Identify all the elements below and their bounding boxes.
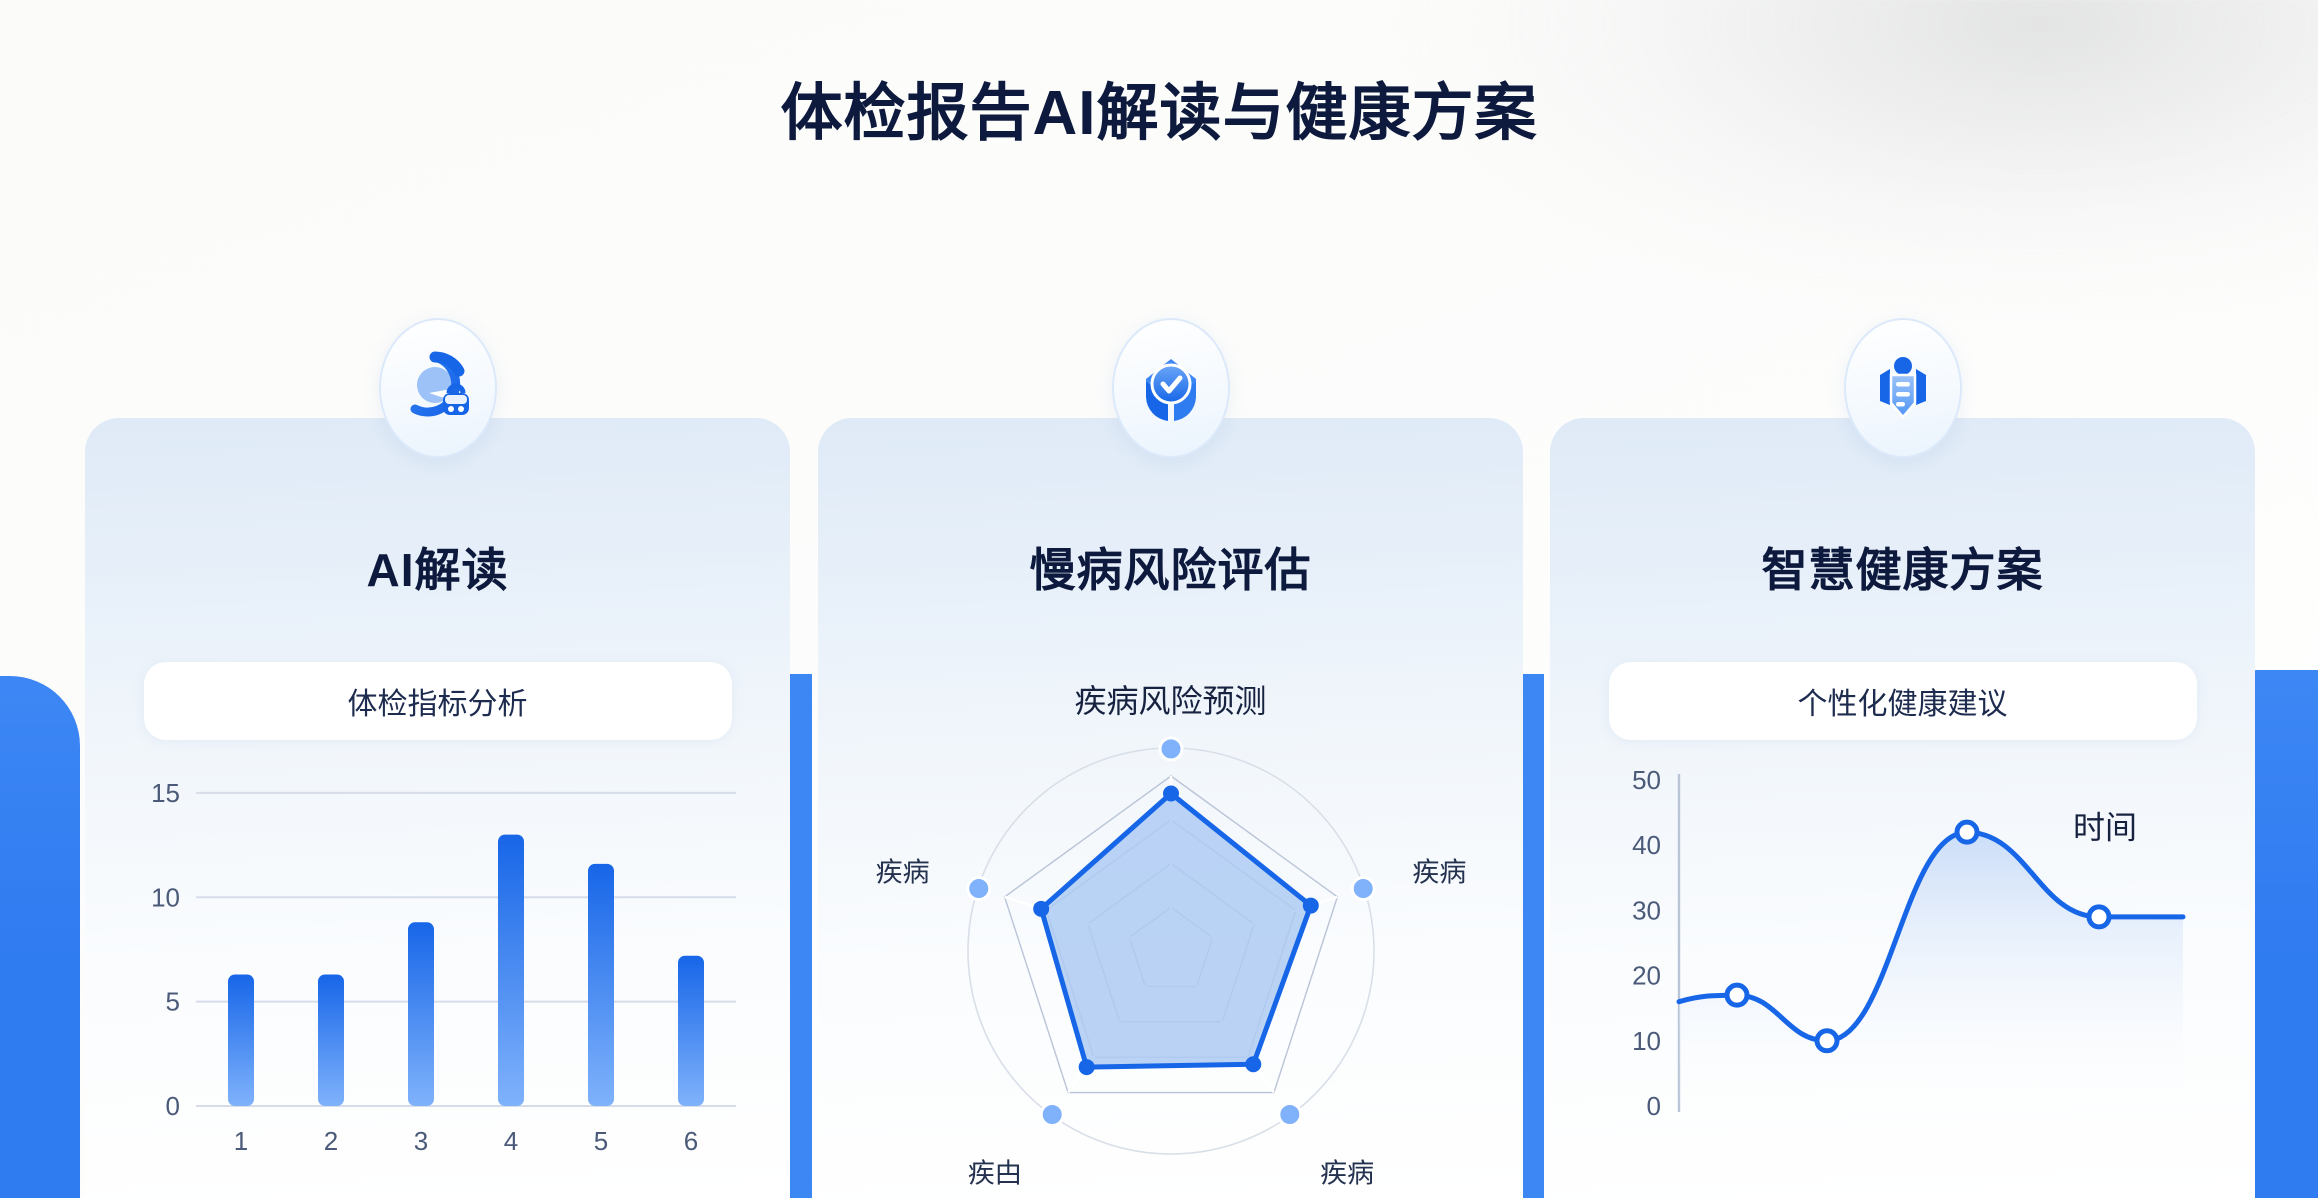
radar-axis-label: 疾病 [1320, 1158, 1374, 1186]
radar-data-point [1245, 1056, 1261, 1072]
x-tick-label: 5 [593, 1126, 607, 1156]
health-record-person-icon [1844, 318, 1962, 458]
card-gap-strip-1 [790, 674, 812, 1198]
bar [498, 835, 524, 1106]
y-tick-label: 10 [1632, 1026, 1661, 1056]
bar [318, 974, 344, 1106]
line-chart: 50403020100时间 [1550, 754, 2255, 1184]
radar-axis-label: 疾病 [875, 858, 929, 888]
radar-data-point [1163, 786, 1179, 802]
y-tick-label: 15 [151, 778, 180, 808]
y-tick-label: 10 [151, 882, 180, 912]
card-title: 智慧健康方案 [1550, 534, 2255, 600]
radar-series-polygon [1041, 794, 1311, 1068]
card-subtitle-pill: 体检指标分析 [144, 662, 732, 740]
feature-card-chronic-risk[interactable]: 慢病风险评估 疾病风险预测 疾病疾病疾病疾甴疾病 [818, 418, 1523, 1198]
radar-axis-marker [1041, 1104, 1063, 1126]
bar [408, 922, 434, 1106]
shield-check-icon [1112, 318, 1230, 458]
radar-axis-marker [1352, 878, 1374, 900]
left-blue-panel [0, 676, 80, 1198]
line-chart-annotation: 时间 [2072, 810, 2136, 846]
card-subtitle-pill: 个性化健康建议 [1609, 662, 2197, 740]
bar [678, 956, 704, 1106]
feature-card-smart-health-plan[interactable]: 智慧健康方案 个性化健康建议 50403020100时间 [1550, 418, 2255, 1198]
radar-chart: 疾病疾病疾病疾甴疾病 [818, 736, 1523, 1186]
radar-data-point [1033, 901, 1049, 917]
bar [588, 864, 614, 1106]
ai-analysis-ring-icon [379, 318, 497, 458]
line-data-point [1817, 1031, 1837, 1051]
radar-axis-marker [967, 878, 989, 900]
line-data-point [1727, 985, 1747, 1005]
feature-card-ai-analysis[interactable]: AI解读 体检指标分析 151050123456 [85, 418, 790, 1198]
y-tick-label: 5 [165, 987, 179, 1017]
card-gap-strip-2 [1522, 674, 1544, 1198]
x-tick-label: 3 [413, 1126, 427, 1156]
line-area-fill [1679, 832, 2183, 1106]
radar-axis-marker [1160, 738, 1182, 760]
line-data-point [2089, 907, 2109, 927]
x-tick-label: 4 [503, 1126, 517, 1156]
x-tick-label: 1 [233, 1126, 247, 1156]
bar-chart: 151050123456 [85, 754, 790, 1184]
page-title: 体检报告AI解读与健康方案 [0, 62, 2318, 152]
card-title: 慢病风险评估 [818, 534, 1523, 600]
y-tick-label: 40 [1632, 830, 1661, 860]
bar [228, 974, 254, 1106]
y-tick-label: 0 [1646, 1091, 1660, 1121]
radar-axis-marker [1278, 1104, 1300, 1126]
card-subtitle: 疾病风险预测 [818, 676, 1523, 722]
radar-axis-label: 疾病 [1412, 858, 1466, 888]
radar-data-point [1078, 1059, 1094, 1075]
radar-data-point [1302, 898, 1318, 914]
y-tick-label: 30 [1632, 895, 1661, 925]
y-tick-label: 20 [1632, 961, 1661, 991]
x-tick-label: 2 [323, 1126, 337, 1156]
y-tick-label: 50 [1632, 765, 1661, 795]
y-tick-label: 0 [165, 1091, 179, 1121]
card-title: AI解读 [85, 534, 790, 600]
radar-axis-label: 疾甴 [967, 1158, 1021, 1186]
x-tick-label: 6 [683, 1126, 697, 1156]
line-data-point [1957, 822, 1977, 842]
